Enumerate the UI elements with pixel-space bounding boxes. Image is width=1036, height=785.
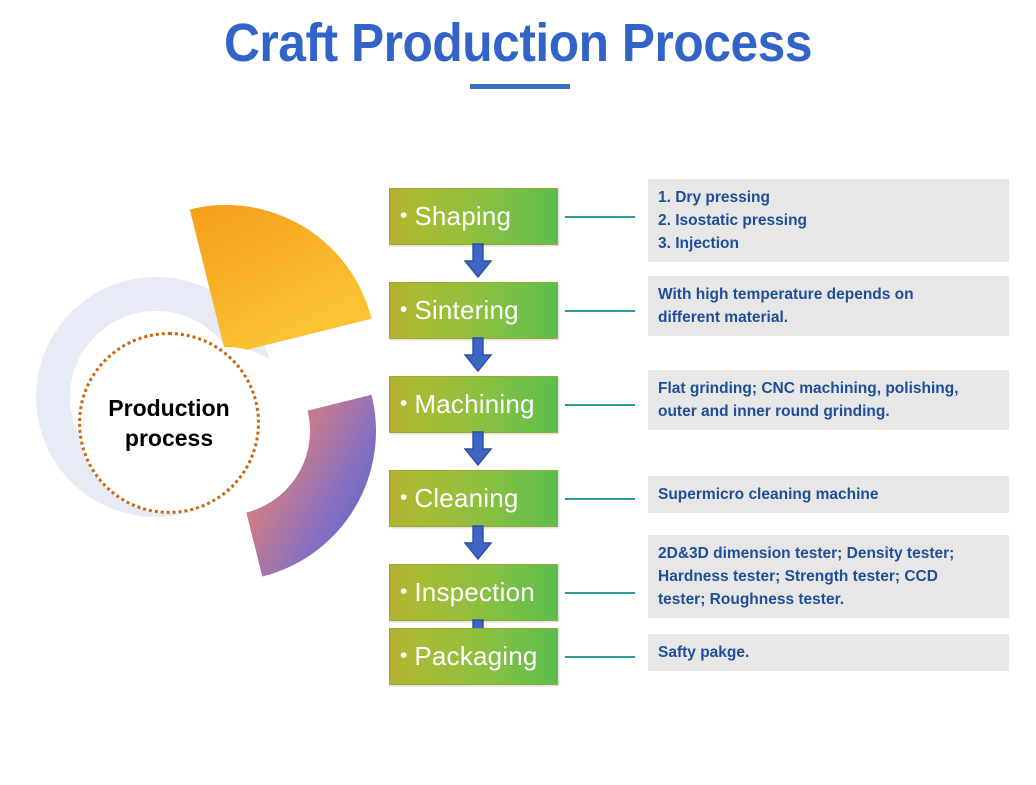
connector-line [565,404,635,406]
bullet-icon: • [400,581,407,602]
connector-line [565,592,635,594]
connector-line [565,498,635,500]
stage-box-cleaning[interactable]: • Cleaning [389,470,558,527]
description-line: outer and inner round grinding. [658,400,1000,423]
bullet-icon: • [400,645,407,666]
stage-box-inspection[interactable]: • Inspection [389,564,558,621]
description-line: Hardness tester; Strength tester; CCD [658,565,1000,588]
bullet-icon: • [400,487,407,508]
stage-label: Machining [414,389,534,420]
description-line: tester; Roughness tester. [658,588,1000,611]
description-line: 3. Injection [658,232,1000,255]
stage-box-packaging[interactable]: • Packaging [389,628,558,685]
stage-box-sintering[interactable]: • Sintering [389,282,558,339]
bullet-icon: • [400,299,407,320]
description-panel-machining: Flat grinding; CNC machining, polishing,… [648,370,1009,430]
description-panel-cleaning: Supermicro cleaning machine [648,476,1009,513]
bullet-icon: • [400,205,407,226]
description-line: 2. Isostatic pressing [658,209,1000,232]
description-line: Flat grinding; CNC machining, polishing, [658,377,1000,400]
stage-label: Cleaning [414,483,518,514]
description-line: 2D&3D dimension tester; Density tester; [658,542,1000,565]
down-arrow-icon [462,431,494,467]
stage-label: Packaging [414,641,537,672]
description-panel-packaging: Safty pakge. [648,634,1009,671]
description-line: With high temperature depends on [658,283,1000,306]
description-line: different material. [658,306,1000,329]
description-panel-inspection: 2D&3D dimension tester; Density tester; … [648,535,1009,618]
process-flow-chart: • Shaping 1. Dry pressing 2. Isostatic p… [0,0,1036,785]
stage-label: Sintering [414,295,518,326]
stage-label: Inspection [414,577,535,608]
connector-line [565,310,635,312]
stage-box-machining[interactable]: • Machining [389,376,558,433]
description-line: Safty pakge. [658,641,1000,664]
stage-label: Shaping [414,201,511,232]
description-line: Supermicro cleaning machine [658,483,1000,506]
bullet-icon: • [400,393,407,414]
description-panel-shaping: 1. Dry pressing 2. Isostatic pressing 3.… [648,179,1009,262]
description-panel-sintering: With high temperature depends on differe… [648,276,1009,336]
down-arrow-icon [462,337,494,373]
stage-box-shaping[interactable]: • Shaping [389,188,558,245]
description-line: 1. Dry pressing [658,186,1000,209]
connector-line [565,656,635,658]
down-arrow-icon [462,243,494,279]
down-arrow-icon [462,525,494,561]
connector-line [565,216,635,218]
